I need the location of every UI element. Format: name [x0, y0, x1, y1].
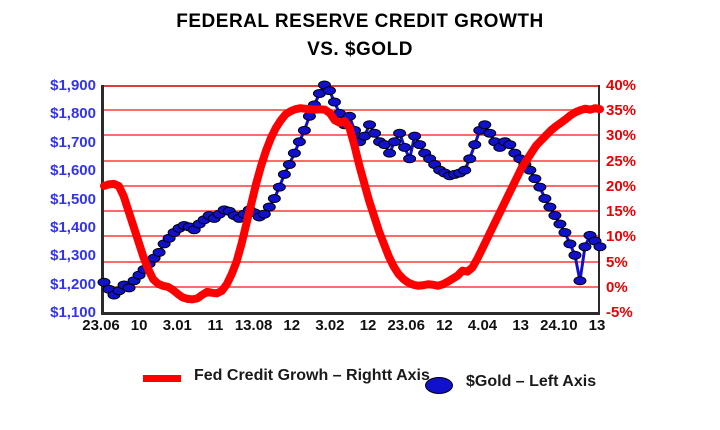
data-point-marker: [459, 166, 471, 174]
data-point-marker: [464, 155, 476, 163]
x-axis-tick: 11: [208, 317, 224, 334]
x-axis-labels: 23.06103.011113.08123.021223.06124.04132…: [0, 317, 720, 341]
data-point-marker: [594, 243, 606, 251]
data-point-marker: [569, 251, 581, 259]
x-axis-tick: 23.06: [82, 317, 120, 334]
right-axis-tick: 5%: [606, 255, 628, 270]
title-line-1: FEDERAL RESERVE CREDIT GROWTH: [0, 8, 720, 36]
x-axis-tick: 12: [436, 317, 453, 334]
x-axis-tick: 4.04: [468, 317, 497, 334]
data-point-marker: [389, 138, 401, 146]
right-axis-tick: 15%: [606, 204, 636, 219]
data-point-marker: [414, 141, 426, 149]
data-point-marker: [479, 121, 491, 129]
x-axis-tick: 3.02: [315, 317, 344, 334]
left-axis-tick: $1,200: [0, 277, 96, 292]
chart-legend: Fed Credit Growh – Rightt Axis $Gold – L…: [0, 362, 720, 422]
series-layer: [104, 85, 600, 312]
data-point-marker: [323, 87, 335, 95]
data-point-marker: [263, 203, 275, 211]
data-point-marker: [298, 126, 310, 134]
x-axis-tick: 13: [512, 317, 529, 334]
data-point-marker: [544, 203, 556, 211]
data-point-marker: [364, 121, 376, 129]
data-point-marker: [549, 212, 561, 220]
data-point-marker: [554, 220, 566, 228]
data-point-marker: [293, 138, 305, 146]
plot-area: [101, 85, 600, 315]
data-point-marker: [534, 183, 546, 191]
legend-item-gold: $Gold – Left Axis: [425, 372, 596, 394]
right-axis-tick: 40%: [606, 78, 636, 93]
x-axis-tick: 3.01: [163, 317, 192, 334]
legend-label-fed-credit: Fed Credit Growh – Rightt Axis: [194, 366, 430, 385]
x-axis-tick: 10: [131, 317, 148, 334]
x-axis-tick: 12: [360, 317, 377, 334]
right-axis-tick: 20%: [606, 179, 636, 194]
left-axis-tick: $1,400: [0, 220, 96, 235]
data-point-marker: [328, 98, 340, 106]
left-axis-tick: $1,700: [0, 135, 96, 150]
left-axis-tick: $1,800: [0, 106, 96, 121]
left-axis-tick: $1,500: [0, 192, 96, 207]
data-point-marker: [469, 141, 481, 149]
data-point-marker: [369, 129, 381, 137]
data-point-marker: [539, 195, 551, 203]
x-axis-tick: 23.06: [387, 317, 425, 334]
data-point-marker: [273, 183, 285, 191]
data-point-marker: [278, 170, 290, 178]
right-axis-tick: 35%: [606, 103, 636, 118]
right-axis-tick: 0%: [606, 280, 628, 295]
right-axis-tick: 25%: [606, 154, 636, 169]
chart-title: FEDERAL RESERVE CREDIT GROWTH VS. $GOLD: [0, 8, 720, 64]
data-point-marker: [399, 143, 411, 151]
data-point-marker: [484, 129, 496, 137]
left-axis-tick: $1,600: [0, 163, 96, 178]
x-axis-tick: 13: [589, 317, 606, 334]
x-axis-tick: 24.10: [540, 317, 578, 334]
x-axis-tick: 13.08: [235, 317, 273, 334]
legend-item-fed-credit: Fed Credit Growh – Rightt Axis: [143, 366, 430, 385]
right-axis-tick: 10%: [606, 229, 636, 244]
data-point-marker: [153, 248, 165, 256]
data-point-marker: [529, 175, 541, 183]
line-swatch-icon: [143, 375, 181, 382]
left-axis-tick: $1,300: [0, 248, 96, 263]
data-point-marker: [579, 243, 591, 251]
data-point-marker: [283, 160, 295, 168]
title-line-2: VS. $GOLD: [0, 36, 720, 64]
data-point-marker: [268, 195, 280, 203]
data-point-marker: [384, 149, 396, 157]
series-line-fed-credit: [104, 108, 600, 299]
dot-swatch-icon: [425, 377, 453, 394]
data-point-marker: [574, 277, 586, 285]
data-point-marker: [404, 155, 416, 163]
legend-label-gold: $Gold – Left Axis: [466, 372, 596, 391]
data-point-marker: [288, 149, 300, 157]
data-point-marker: [564, 240, 576, 248]
right-axis-tick: 30%: [606, 128, 636, 143]
left-axis-tick: $1,900: [0, 78, 96, 93]
x-axis-tick: 12: [283, 317, 300, 334]
data-point-marker: [504, 141, 516, 149]
data-point-marker: [409, 132, 421, 140]
data-point-marker: [559, 229, 571, 237]
data-point-marker: [394, 129, 406, 137]
chart-root: FEDERAL RESERVE CREDIT GROWTH VS. $GOLD …: [0, 0, 720, 430]
